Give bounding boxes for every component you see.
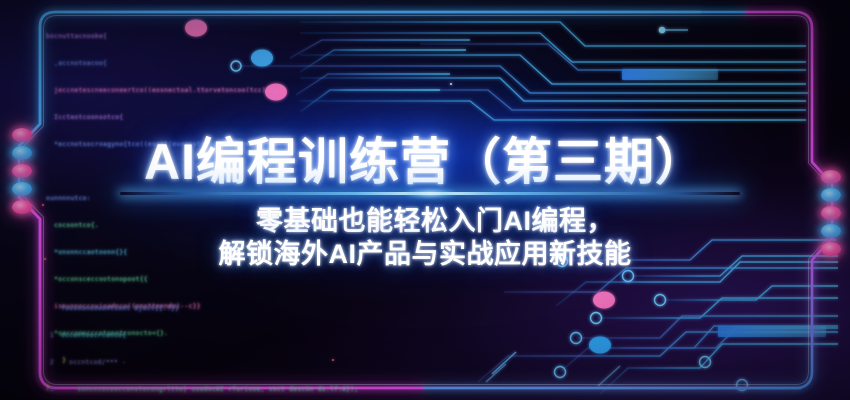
promo-poster: bocnuttacnooke{ ,accnotoacoo{ jeccnetesc…	[0, 0, 850, 400]
vignette-overlay	[0, 0, 850, 400]
